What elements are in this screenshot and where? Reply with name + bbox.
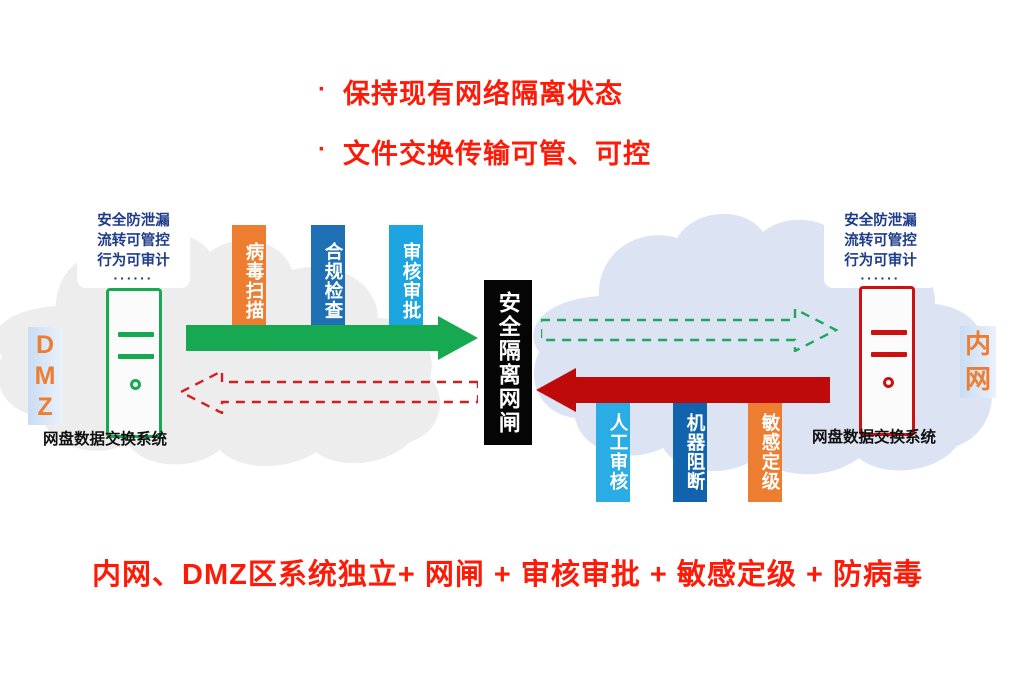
security-isolation-gateway: 安全隔离网闸 <box>484 280 532 445</box>
server-caption-intranet: 网盘数据交换系统 <box>812 425 936 447</box>
zone-dmz-letter-d: D <box>36 330 54 361</box>
zone-dmz-letter-z: Z <box>37 392 52 423</box>
callout-right-line-1: 安全防泄漏 <box>831 211 930 231</box>
server-power-icon <box>130 379 141 390</box>
server-icon-intranet <box>859 286 915 436</box>
server-power-icon <box>883 377 894 388</box>
server-bar-icon <box>871 352 907 357</box>
server-bar-icon <box>871 330 907 335</box>
headline-bullet-1: · 保持现有网络隔离状态 <box>318 72 838 111</box>
callout-intranet-capabilities: 安全防泄漏 流转可管控 行为可审计 ······ <box>824 205 937 288</box>
callout-left-line-2: 流转可管控 <box>84 231 183 251</box>
arrow-intranet-to-gateway <box>534 368 830 412</box>
bullet-dot-icon: · <box>318 138 327 162</box>
summary-formula: 内网、DMZ区系统独立+ 网闸 + 审核审批 + 敏感定级 + 防病毒 <box>0 551 1015 593</box>
callout-left-line-3: 行为可审计 <box>84 251 183 271</box>
zone-intranet-line-1: 内 <box>965 327 991 362</box>
callout-right-line-2: 流转可管控 <box>831 231 930 251</box>
callout-right-line-3: 行为可审计 <box>831 251 930 271</box>
headline-bullet-2: · 文件交换传输可管、可控 <box>318 132 838 171</box>
arrow-gateway-to-intranet <box>541 308 839 352</box>
arrow-dmz-to-gateway <box>186 316 478 360</box>
zone-label-intranet: 内 网 <box>960 326 996 398</box>
zone-dmz-letter-m: M <box>35 361 56 392</box>
server-icon-dmz <box>106 288 162 438</box>
callout-right-ellipsis: ······ <box>831 272 930 285</box>
headline-bullet-1-text: 保持现有网络隔离状态 <box>343 72 623 111</box>
server-bar-icon <box>118 332 154 337</box>
diagram-canvas: · 保持现有网络隔离状态 · 文件交换传输可管、可控 D M Z 内 网 安全防… <box>0 0 1015 675</box>
callout-left-ellipsis: ······ <box>84 272 183 285</box>
headline-bullet-2-text: 文件交换传输可管、可控 <box>343 132 651 171</box>
zone-label-dmz: D M Z <box>28 327 62 425</box>
callout-dmz-capabilities: 安全防泄漏 流转可管控 行为可审计 ······ <box>77 205 190 288</box>
bullet-dot-icon: · <box>318 78 327 102</box>
arrow-gateway-to-dmz <box>178 370 478 414</box>
zone-intranet-line-2: 网 <box>965 362 991 397</box>
server-bar-icon <box>118 354 154 359</box>
headline-bullet-list: · 保持现有网络隔离状态 · 文件交换传输可管、可控 <box>318 72 838 192</box>
server-caption-dmz: 网盘数据交换系统 <box>43 427 167 449</box>
callout-left-line-1: 安全防泄漏 <box>84 211 183 231</box>
